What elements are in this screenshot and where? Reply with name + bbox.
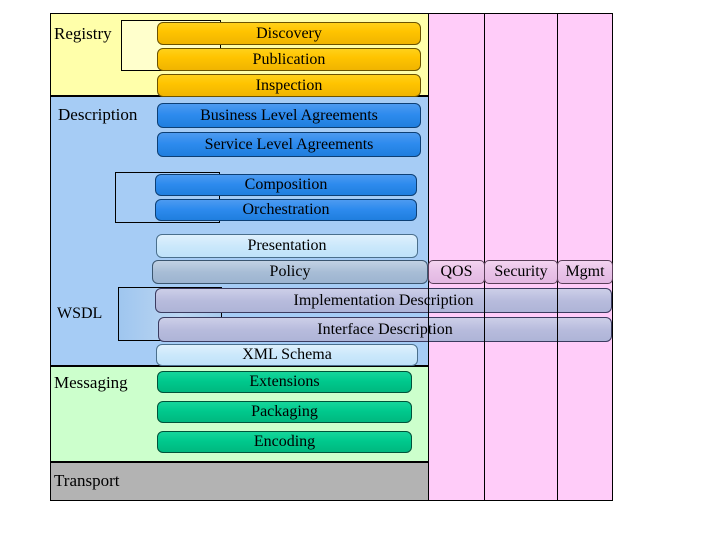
column-header-qos[interactable]: QOS (428, 260, 485, 284)
bar-extensions[interactable]: Extensions (157, 371, 412, 393)
bar-business-level-agreements[interactable]: Business Level Agreements (157, 103, 421, 128)
bar-discovery[interactable]: Discovery (157, 22, 421, 45)
bar-implementation-description[interactable]: Implementation Description (155, 288, 612, 313)
column-rule-qos (428, 288, 429, 342)
layer-label-transport: Transport (54, 472, 120, 489)
column-qos (428, 13, 485, 501)
web-services-stack-diagram: Registry Description WSDL Messaging Tran… (0, 0, 720, 540)
bar-orchestration[interactable]: Orchestration (155, 199, 417, 221)
bar-presentation[interactable]: Presentation (156, 234, 418, 258)
layer-label-registry: Registry (54, 25, 112, 42)
bar-interface-description[interactable]: Interface Description (158, 317, 612, 342)
bar-xml-schema[interactable]: XML Schema (156, 344, 418, 366)
bar-inspection[interactable]: Inspection (157, 74, 421, 97)
column-header-mgmt[interactable]: Mgmt (557, 260, 613, 284)
bar-policy[interactable]: Policy (152, 260, 428, 284)
layer-sublabel-wsdl: WSDL (57, 306, 102, 322)
column-header-security[interactable]: Security (484, 260, 558, 284)
column-rule-security (484, 288, 485, 342)
bar-packaging[interactable]: Packaging (157, 401, 412, 423)
bar-composition[interactable]: Composition (155, 174, 417, 196)
bar-encoding[interactable]: Encoding (157, 431, 412, 453)
bar-publication[interactable]: Publication (157, 48, 421, 71)
layer-label-messaging: Messaging (54, 374, 128, 391)
column-mgmt (557, 13, 613, 501)
column-rule-mgmt (557, 288, 558, 342)
bar-service-level-agreements[interactable]: Service Level Agreements (157, 132, 421, 157)
column-security (484, 13, 558, 501)
layer-label-description: Description (58, 106, 137, 123)
